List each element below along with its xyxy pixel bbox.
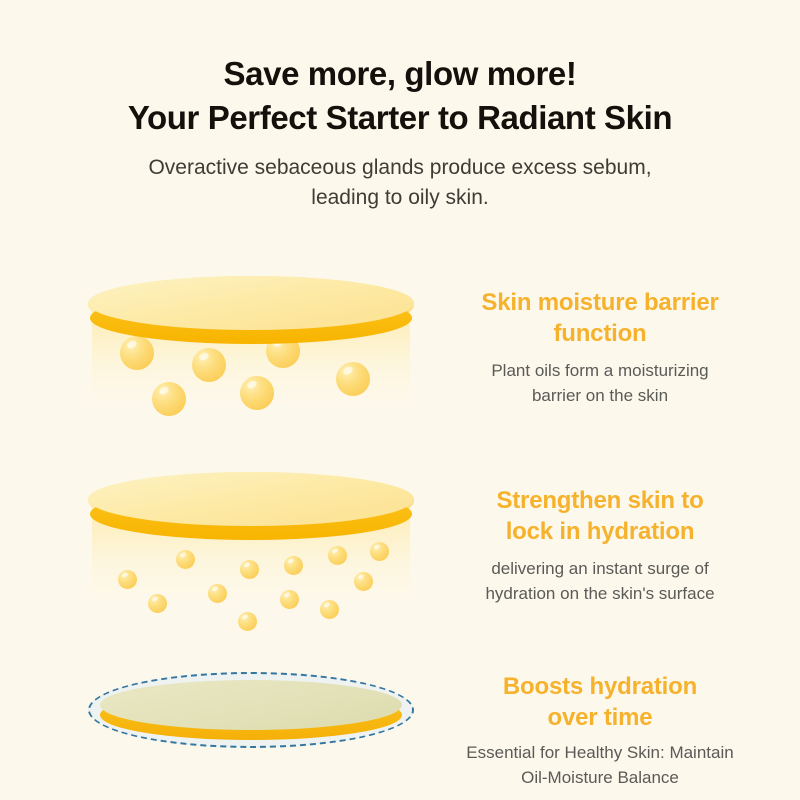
subhead-line-2: leading to oily skin.	[0, 183, 800, 213]
feature-title-line-1: Boosts hydration	[503, 673, 697, 700]
feature-title-line-2: function	[424, 319, 776, 350]
oil-droplet	[240, 376, 274, 410]
feature-desc-line-2: barrier on the skin	[424, 384, 776, 408]
oil-droplet	[280, 590, 299, 609]
feature-copy-2: Strengthen skin to lock in hydration del…	[424, 458, 776, 606]
disc-illustration-3	[88, 654, 414, 800]
feature-desc-line-1: delivering an instant surge of	[491, 559, 708, 578]
green-disc-icon	[88, 672, 414, 756]
cream-jar-icon	[88, 276, 414, 448]
disc-top-surface	[100, 680, 402, 730]
oil-droplet	[320, 600, 339, 619]
oil-droplet	[336, 362, 370, 396]
oil-droplet	[148, 594, 167, 613]
oil-droplet	[192, 348, 226, 382]
oil-droplet	[152, 382, 186, 416]
subhead-line-1: Overactive sebaceous glands produce exce…	[148, 156, 651, 179]
feature-row: Skin moisture barrier function Plant oil…	[0, 262, 800, 458]
headline-line-2: Your Perfect Starter to Radiant Skin	[0, 96, 800, 140]
jar-illustration-2	[88, 458, 414, 654]
jar-top-surface	[88, 276, 414, 330]
feature-title: Strengthen skin to lock in hydration	[424, 486, 776, 547]
feature-title-line-2: over time	[424, 703, 776, 734]
feature-desc-line-2: Oil-Moisture Balance	[424, 766, 776, 790]
feature-title-line-1: Strengthen skin to	[496, 487, 703, 514]
headline-line-1: Save more, glow more!	[224, 55, 577, 92]
oil-droplet	[354, 572, 373, 591]
feature-description: Plant oils form a moisturizing barrier o…	[424, 349, 776, 408]
oil-droplet	[240, 560, 259, 579]
oil-droplet	[118, 570, 137, 589]
feature-description: delivering an instant surge of hydration…	[424, 547, 776, 606]
feature-desc-line-1: Essential for Healthy Skin: Maintain	[466, 743, 733, 762]
feature-title-line-2: lock in hydration	[424, 517, 776, 548]
feature-copy-3: Boosts hydration over time Essential for…	[424, 654, 776, 790]
feature-list: Skin moisture barrier function Plant oil…	[0, 262, 800, 800]
page-subtitle: Overactive sebaceous glands produce exce…	[0, 139, 800, 213]
feature-title: Skin moisture barrier function	[424, 288, 776, 349]
feature-title-line-1: Skin moisture barrier	[481, 289, 718, 316]
feature-description: Essential for Healthy Skin: Maintain Oil…	[424, 733, 776, 790]
oil-droplet	[176, 550, 195, 569]
feature-row: Boosts hydration over time Essential for…	[0, 654, 800, 800]
oil-droplet	[328, 546, 347, 565]
oil-droplet	[370, 542, 389, 561]
jar-top-surface	[88, 472, 414, 526]
feature-desc-line-2: hydration on the skin's surface	[424, 582, 776, 606]
header: Save more, glow more! Your Perfect Start…	[0, 0, 800, 213]
jar-illustration-1	[88, 262, 414, 458]
oil-droplet	[238, 612, 257, 631]
oil-droplet	[120, 336, 154, 370]
oil-droplet	[208, 584, 227, 603]
feature-copy-1: Skin moisture barrier function Plant oil…	[424, 262, 776, 408]
page-title: Save more, glow more! Your Perfect Start…	[0, 0, 800, 139]
feature-desc-line-1: Plant oils form a moisturizing	[491, 361, 708, 380]
oil-droplet	[284, 556, 303, 575]
feature-row: Strengthen skin to lock in hydration del…	[0, 458, 800, 654]
feature-title: Boosts hydration over time	[424, 672, 776, 733]
cream-jar-icon	[88, 472, 414, 644]
